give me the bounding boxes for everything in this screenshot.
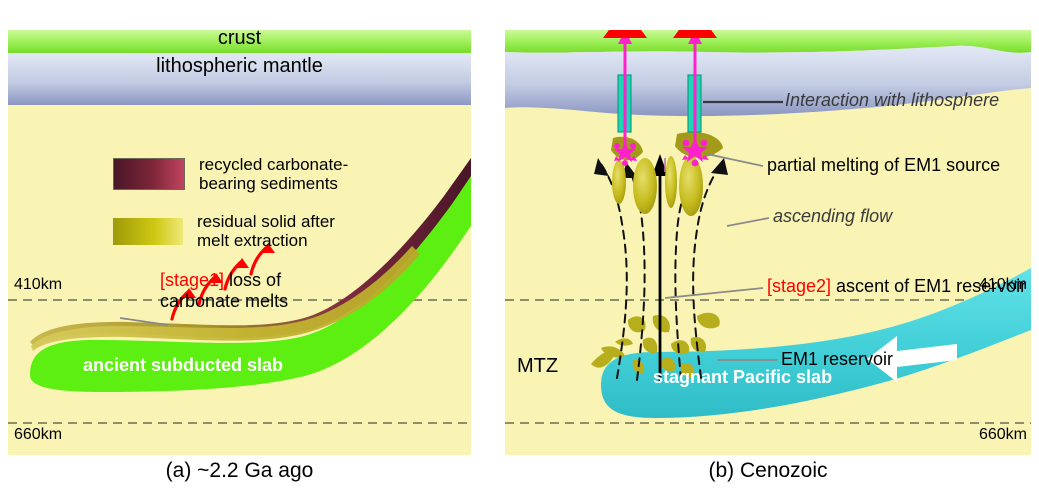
stage1-text-line1: loss of — [224, 270, 281, 290]
panel-b: potassic volcanic field Interaction with… — [505, 30, 1031, 455]
legend-swatch-residual-solid — [113, 218, 183, 245]
annotation-ascending-flow: ascending flow — [773, 206, 892, 227]
stagnant-pacific-slab-label: stagnant Pacific slab — [653, 367, 832, 388]
legend-item-residual-a: residual solid after melt extraction — [113, 212, 335, 250]
legend-item-carbonate-a: recycled carbonate- bearing sediments — [113, 155, 348, 193]
depth-label-660-b: 660km — [979, 426, 1027, 444]
stage1-text-line2: carbonate melts — [160, 291, 288, 312]
ancient-subducted-slab-label: ancient subducted slab — [38, 355, 328, 376]
legend-label-carbonate-line1: recycled carbonate- — [199, 155, 348, 174]
volcano-left-icon — [603, 30, 647, 38]
caption-panel-a: (a) ~2.2 Ga ago — [8, 459, 471, 483]
region-label-mtz: MTZ — [517, 355, 558, 378]
volcano-right-icon — [673, 30, 717, 38]
depth-label-660-a: 660km — [14, 426, 62, 444]
stage1-tag: [stage1] — [160, 270, 224, 290]
depth-label-410-b: 410km — [979, 276, 1027, 294]
legend-label-residual-line1: residual solid after — [197, 212, 335, 231]
annotation-partial-melting: partial melting of EM1 source — [767, 155, 1000, 176]
legend-label-carbonate-line2: bearing sediments — [199, 174, 348, 193]
stage2-tag: [stage2] — [767, 276, 831, 296]
annotation-interaction-with-lithosphere: Interaction with lithosphere — [785, 90, 999, 111]
panel-a: crust lithospheric mantle recycled carbo… — [8, 30, 471, 455]
caption-panel-b: (b) Cenozoic — [505, 459, 1031, 483]
annotation-stage1: [stage1] loss of carbonate melts — [160, 270, 288, 311]
lithospheric-mantle-label-a: lithospheric mantle — [8, 55, 471, 78]
depth-label-410-a: 410km — [14, 276, 62, 294]
legend-label-residual-line2: melt extraction — [197, 231, 335, 250]
legend-swatch-carbonate-sediment — [113, 158, 185, 190]
crust-label-a: crust — [8, 30, 471, 50]
